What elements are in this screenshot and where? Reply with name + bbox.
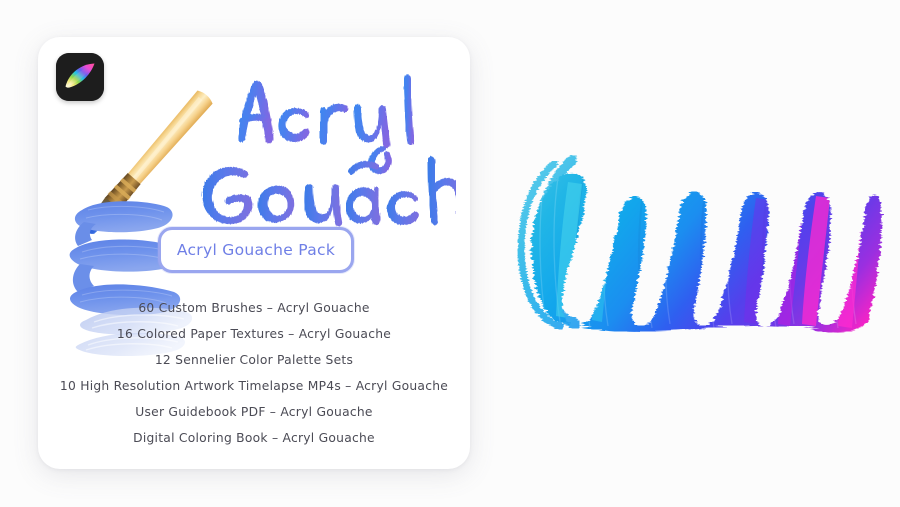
feature-item: 10 High Resolution Artwork Timelapse MP4… <box>46 373 462 399</box>
feature-item: User Guidebook PDF – Acryl Gouache <box>46 399 462 425</box>
poster-canvas: Acryl Gouache Pack 60 Custom Brushes – A… <box>0 0 900 507</box>
pack-badge-label: Acryl Gouache Pack <box>158 227 354 273</box>
feature-list: 60 Custom Brushes – Acryl Gouache 16 Col… <box>46 295 462 451</box>
product-card: Acryl Gouache Pack 60 Custom Brushes – A… <box>38 37 470 469</box>
title-line-1 <box>238 75 414 174</box>
title-line-2 <box>202 157 456 227</box>
gouache-color-swatch <box>498 140 898 340</box>
feature-item: 16 Colored Paper Textures – Acryl Gouach… <box>46 321 462 347</box>
feature-item: 60 Custom Brushes – Acryl Gouache <box>46 295 462 321</box>
page-title <box>188 55 456 245</box>
feature-item: Digital Coloring Book – Acryl Gouache <box>46 425 462 451</box>
pack-badge[interactable]: Acryl Gouache Pack <box>158 227 354 273</box>
feature-item: 12 Sennelier Color Palette Sets <box>46 347 462 373</box>
